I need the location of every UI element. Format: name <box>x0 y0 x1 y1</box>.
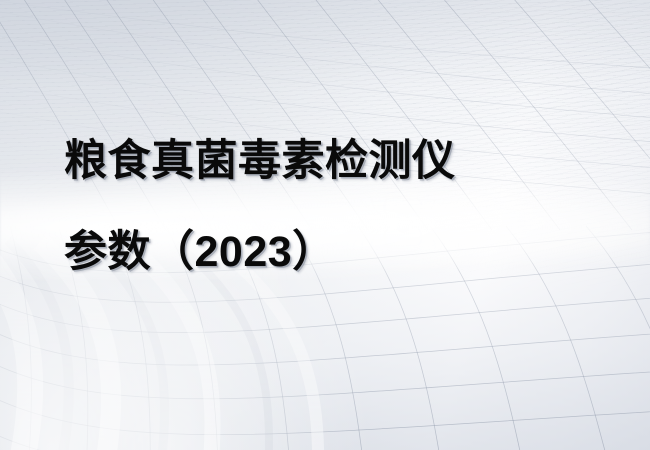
page-title: 粮食真菌毒素检测仪 参数（2023） <box>64 140 456 274</box>
title-line-primary: 粮食真菌毒素检测仪 <box>64 140 456 183</box>
title-card: 粮食真菌毒素检测仪 参数（2023） <box>0 0 650 450</box>
title-line-secondary: 参数（2023） <box>64 231 456 274</box>
